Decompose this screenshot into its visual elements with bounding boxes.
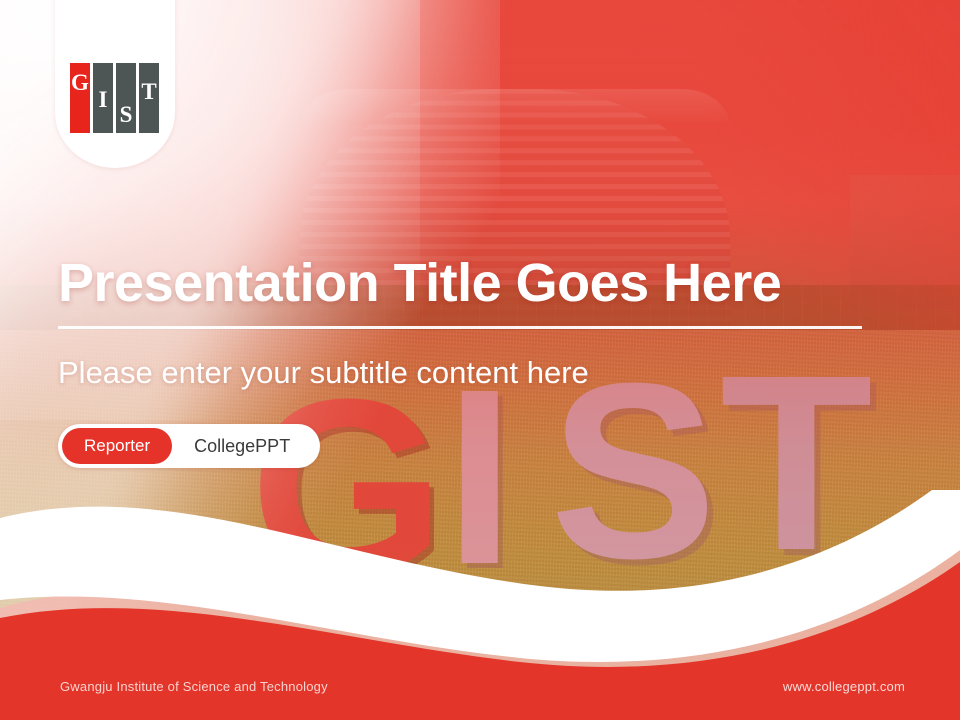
logo-bar-i: I [93,63,113,133]
title-divider [58,326,862,329]
footer-website[interactable]: www.collegeppt.com [783,679,905,694]
logo-letter-s: S [120,102,133,128]
logo-bar-t: T [139,63,159,133]
slide-title[interactable]: Presentation Title Goes Here [58,252,918,314]
slide-subtitle[interactable]: Please enter your subtitle content here [58,355,589,391]
reporter-label: Reporter [62,428,172,464]
logo-bar-s: S [116,63,136,133]
logo-letter-i: I [99,87,108,113]
presentation-slide: G I S T G I [0,0,960,720]
footer-institution: Gwangju Institute of Science and Technol… [60,679,328,694]
logo-letter-t: T [141,79,156,105]
logo-bar-g: G [70,63,90,133]
gist-logo: G I S T [55,0,175,168]
logo-bars: G I S T [70,63,159,133]
reporter-pill[interactable]: Reporter CollegePPT [58,424,320,468]
reporter-value[interactable]: CollegePPT [172,436,316,457]
logo-letter-g: G [71,70,89,96]
